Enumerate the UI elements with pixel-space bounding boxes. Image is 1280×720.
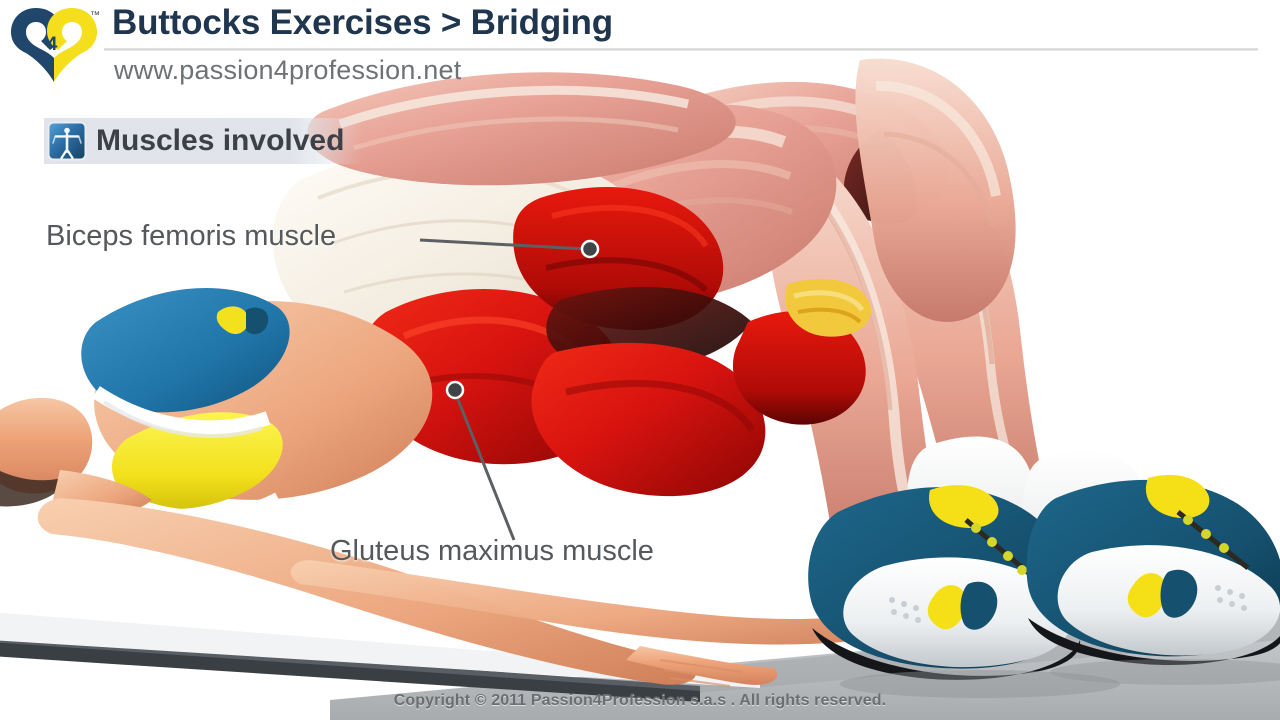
website-url: www.passion4profession.net — [114, 52, 461, 88]
video-frame: 4 ™ Buttocks Exercises > Bridging www.pa… — [0, 0, 1280, 720]
trademark-symbol: ™ — [90, 10, 100, 21]
anatomy-figure-icon — [47, 121, 87, 161]
callout-biceps-femoris: Biceps femoris muscle — [46, 219, 336, 253]
logo-digit-4: 4 — [47, 34, 58, 55]
muscles-involved-badge: Muscles involved — [44, 118, 362, 164]
callout-gluteus-maximus: Gluteus maximus muscle — [330, 534, 654, 568]
p4p-heart-logo-icon: 4 ™ — [6, 2, 102, 86]
video-header: 4 ™ Buttocks Exercises > Bridging www.pa… — [0, 0, 1280, 100]
muscles-involved-label: Muscles involved — [96, 124, 344, 158]
header-divider — [104, 48, 1258, 51]
copyright-notice: Copyright © 2011 Passion4Profession s.a.… — [0, 692, 1280, 710]
bridging-exercise-anatomy-illustration — [0, 0, 1280, 720]
page-title: Buttocks Exercises > Bridging — [112, 2, 613, 44]
